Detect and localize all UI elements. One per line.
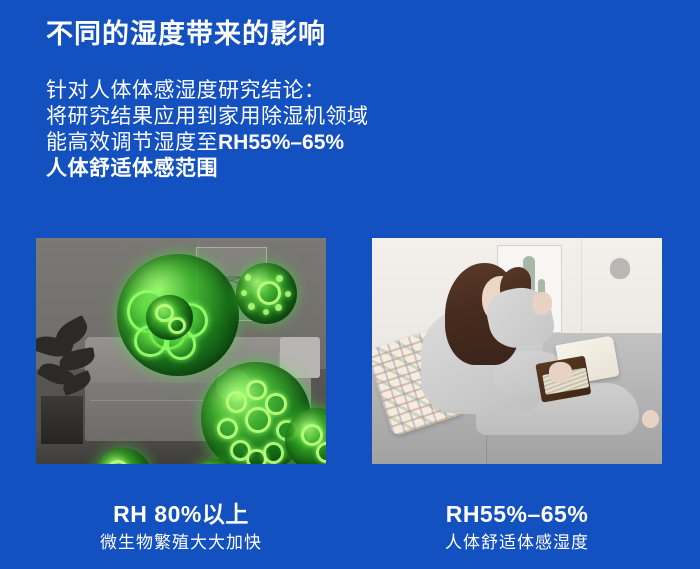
- body-line-3: 能高效调节湿度至RH55%–65%: [46, 130, 369, 156]
- wall-speaker-icon: [610, 258, 630, 278]
- humidity-comparison-poster: 不同的湿度带来的影响 针对人体体感湿度研究结论： 将研究结果应用到家用除湿机领域…: [0, 0, 700, 569]
- body-line-2: 将研究结果应用到家用除湿机领域: [46, 104, 369, 130]
- dark-living-room-illustration: [36, 238, 326, 464]
- body-copy: 针对人体体感湿度研究结论： 将研究结果应用到家用除湿机领域 能高效调节湿度至RH…: [46, 78, 369, 182]
- photo-high-humidity: [36, 238, 326, 464]
- bright-living-room-illustration: [372, 238, 662, 464]
- body-line-4: 人体舒适体感范围: [46, 156, 369, 182]
- wall-speaker-icon: [300, 252, 314, 267]
- body-line-3-highlight: RH55%–65%: [218, 131, 344, 154]
- caption-subtitle: 人体舒适体感湿度: [372, 531, 662, 555]
- potted-plant: [36, 317, 111, 444]
- caption-title: RH55%–65%: [372, 500, 662, 528]
- caption-high-humidity: RH 80%以上 微生物繁殖大大加快: [36, 500, 326, 555]
- microbe-icon: [146, 295, 192, 340]
- plant-pot: [41, 396, 83, 444]
- body-line-3-regular: 能高效调节湿度至: [46, 131, 218, 154]
- caption-title: RH 80%以上: [36, 500, 326, 528]
- caption-comfort-humidity: RH55%–65% 人体舒适体感湿度: [372, 500, 662, 555]
- woman-hand-at-face: [532, 292, 552, 315]
- woman-foot: [642, 410, 659, 428]
- photo-comfort-humidity: [372, 238, 662, 464]
- woman-hand-on-book: [549, 362, 572, 382]
- body-line-1: 针对人体体感湿度研究结论：: [46, 78, 369, 104]
- microbe-icon: [236, 263, 297, 324]
- page-title: 不同的湿度带来的影响: [46, 18, 326, 52]
- caption-subtitle: 微生物繁殖大大加快: [36, 531, 326, 555]
